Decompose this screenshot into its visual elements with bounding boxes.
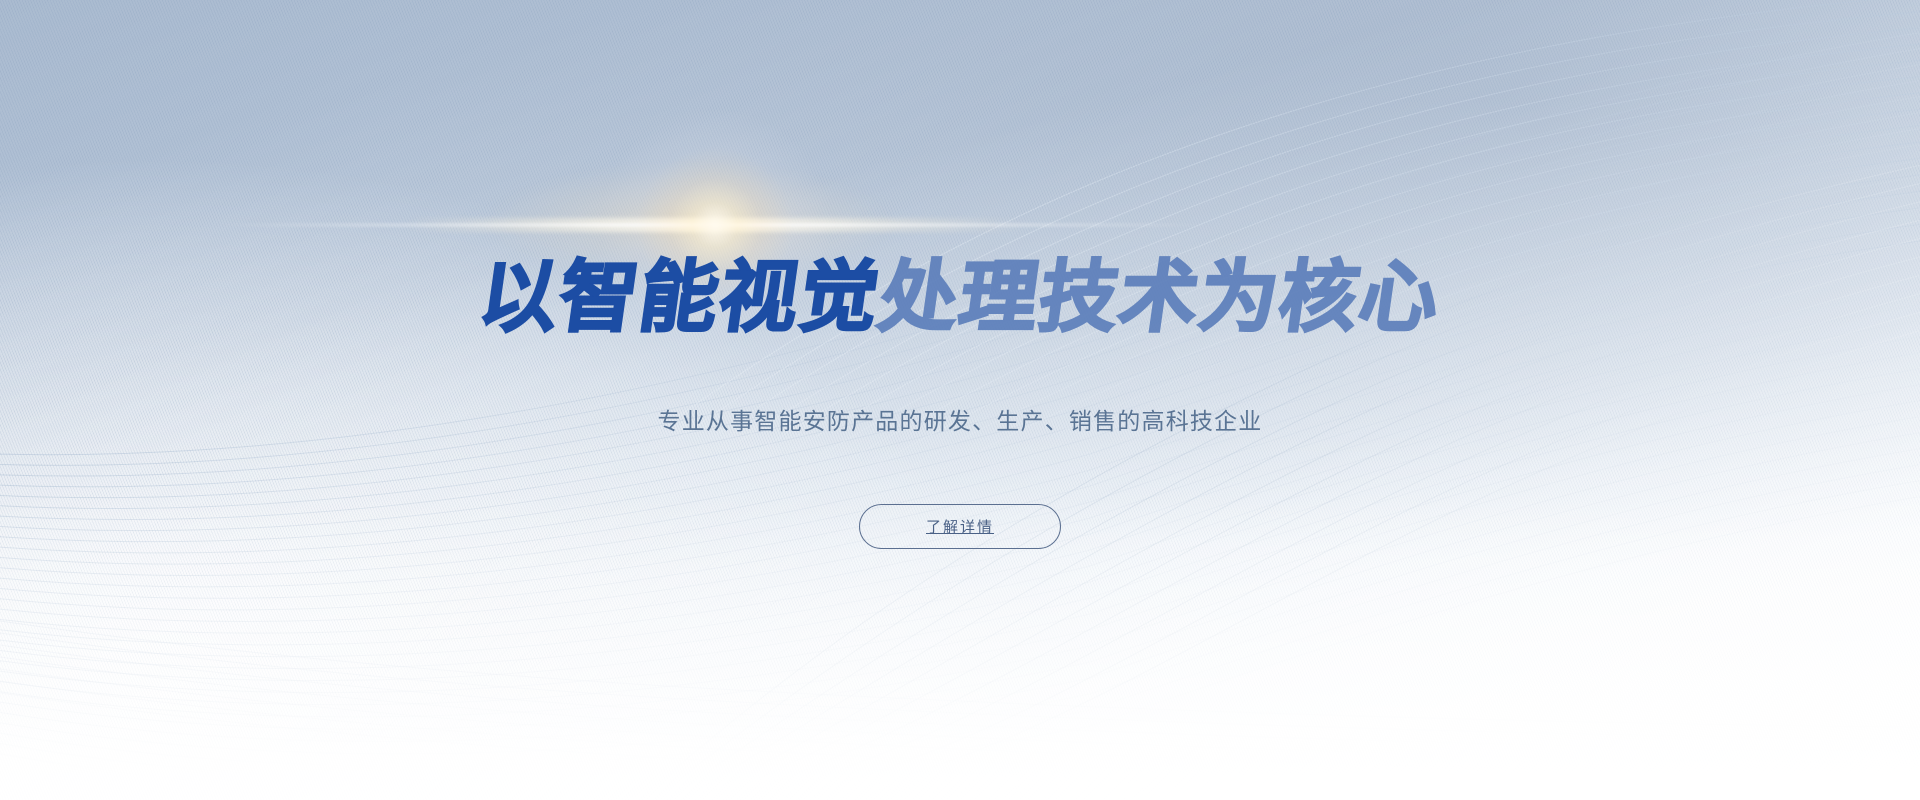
banner-headline: 以智能视觉处理技术为核心	[480, 258, 1440, 336]
background-gradient-top-right	[0, 0, 1920, 800]
lens-flare-streak	[405, 218, 1025, 232]
flowing-line-waves	[0, 0, 1920, 800]
lens-flare-warm-glow	[480, 162, 900, 282]
learn-more-button-label: 了解详情	[926, 516, 994, 537]
background-gradient-base	[0, 0, 1920, 800]
hatch-fade-overlay	[0, 0, 1920, 800]
banner-content: 以智能视觉处理技术为核心 专业从事智能安防产品的研发、生产、销售的高科技企业 了…	[0, 0, 1920, 800]
headline-primary-text: 以智能视觉	[475, 258, 886, 336]
bottom-white-fade	[0, 0, 1920, 800]
lens-flare-core	[600, 110, 830, 340]
diagonal-hatch-texture	[0, 0, 1920, 800]
hero-banner: 以智能视觉处理技术为核心 专业从事智能安防产品的研发、生产、销售的高科技企业 了…	[0, 0, 1920, 800]
headline-secondary-text: 处理技术为核心	[875, 258, 1446, 336]
background-gradient-bottom-left-light	[0, 0, 1920, 800]
banner-subtitle: 专业从事智能安防产品的研发、生产、销售的高科技企业	[658, 402, 1263, 436]
learn-more-button[interactable]: 了解详情	[859, 504, 1061, 549]
lens-flare-streak-thin	[215, 223, 1215, 227]
